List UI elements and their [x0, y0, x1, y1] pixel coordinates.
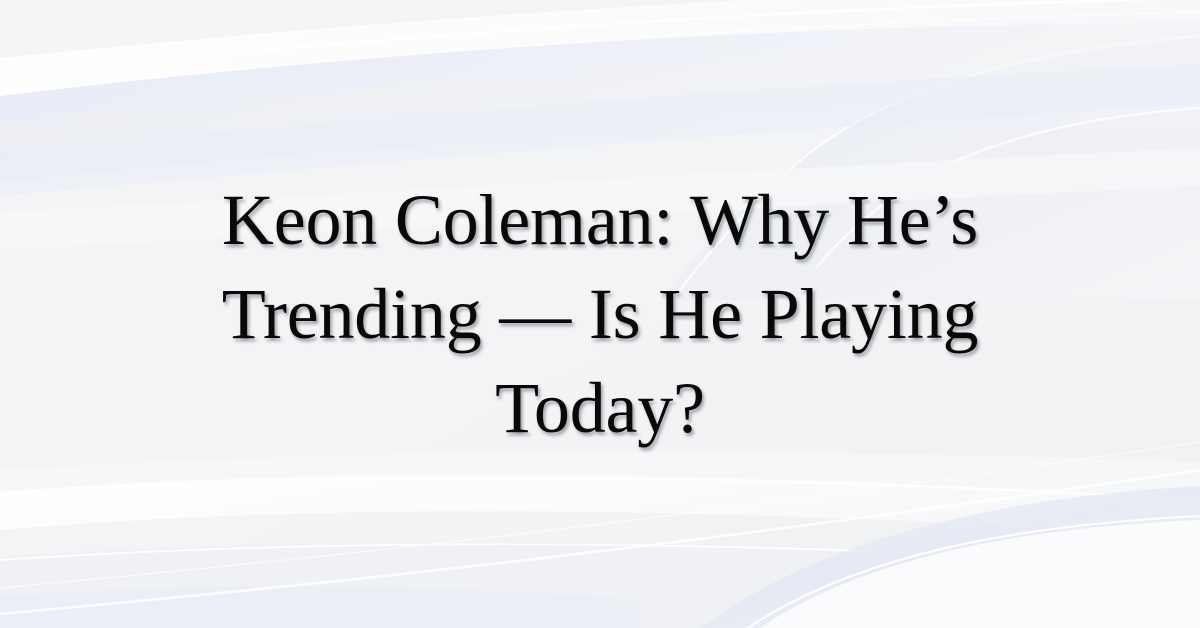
page-title: Keon Coleman: Why He’s Trending — Is He …: [170, 173, 1030, 455]
social-share-card: Keon Coleman: Why He’s Trending — Is He …: [0, 0, 1200, 628]
headline-container: Keon Coleman: Why He’s Trending — Is He …: [0, 0, 1200, 628]
